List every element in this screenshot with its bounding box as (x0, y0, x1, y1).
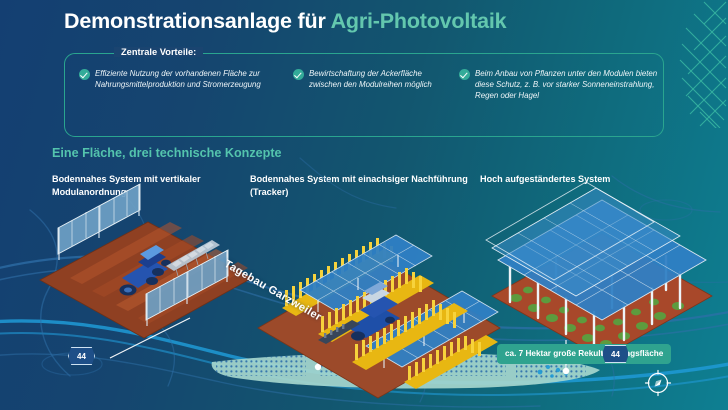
infographic-canvas: Demonstrationsanlage für Agri-Photovolta… (0, 0, 728, 410)
callout-rekultivierungsflaeche: ca. 7 Hektar große Rekultivierungsfläche (497, 344, 671, 364)
check-icon (459, 69, 470, 80)
illustration-vertical-system (40, 184, 252, 338)
isometric-scene (0, 150, 728, 410)
road-shield-right: 44 (602, 345, 629, 363)
check-icon (293, 69, 304, 80)
benefit-item: Effiziente Nutzung der vorhandenen Fläch… (65, 68, 279, 101)
road-shield-left: 44 (68, 347, 95, 365)
benefit-text: Bewirtschaftung der Ackerfläche zwischen… (309, 68, 441, 101)
page-title: Demonstrationsanlage für Agri-Photovolta… (64, 9, 506, 34)
benefit-text: Effiziente Nutzung der vorhandenen Fläch… (95, 68, 275, 101)
title-main: Demonstrationsanlage für (64, 9, 331, 33)
benefit-item: Bewirtschaftung der Ackerfläche zwischen… (279, 68, 445, 101)
benefits-grid: Effiziente Nutzung der vorhandenen Fläch… (65, 68, 665, 101)
benefits-legend: Zentrale Vorteile: (114, 47, 203, 57)
benefit-item: Beim Anbau von Pflanzen unter den Module… (445, 68, 665, 101)
check-icon (79, 69, 90, 80)
compass-icon (643, 368, 673, 398)
benefits-panel: Zentrale Vorteile: Effiziente Nutzung de… (64, 53, 664, 137)
benefit-text: Beim Anbau von Pflanzen unter den Module… (475, 68, 661, 101)
title-accent: Agri-Photovoltaik (331, 9, 507, 33)
